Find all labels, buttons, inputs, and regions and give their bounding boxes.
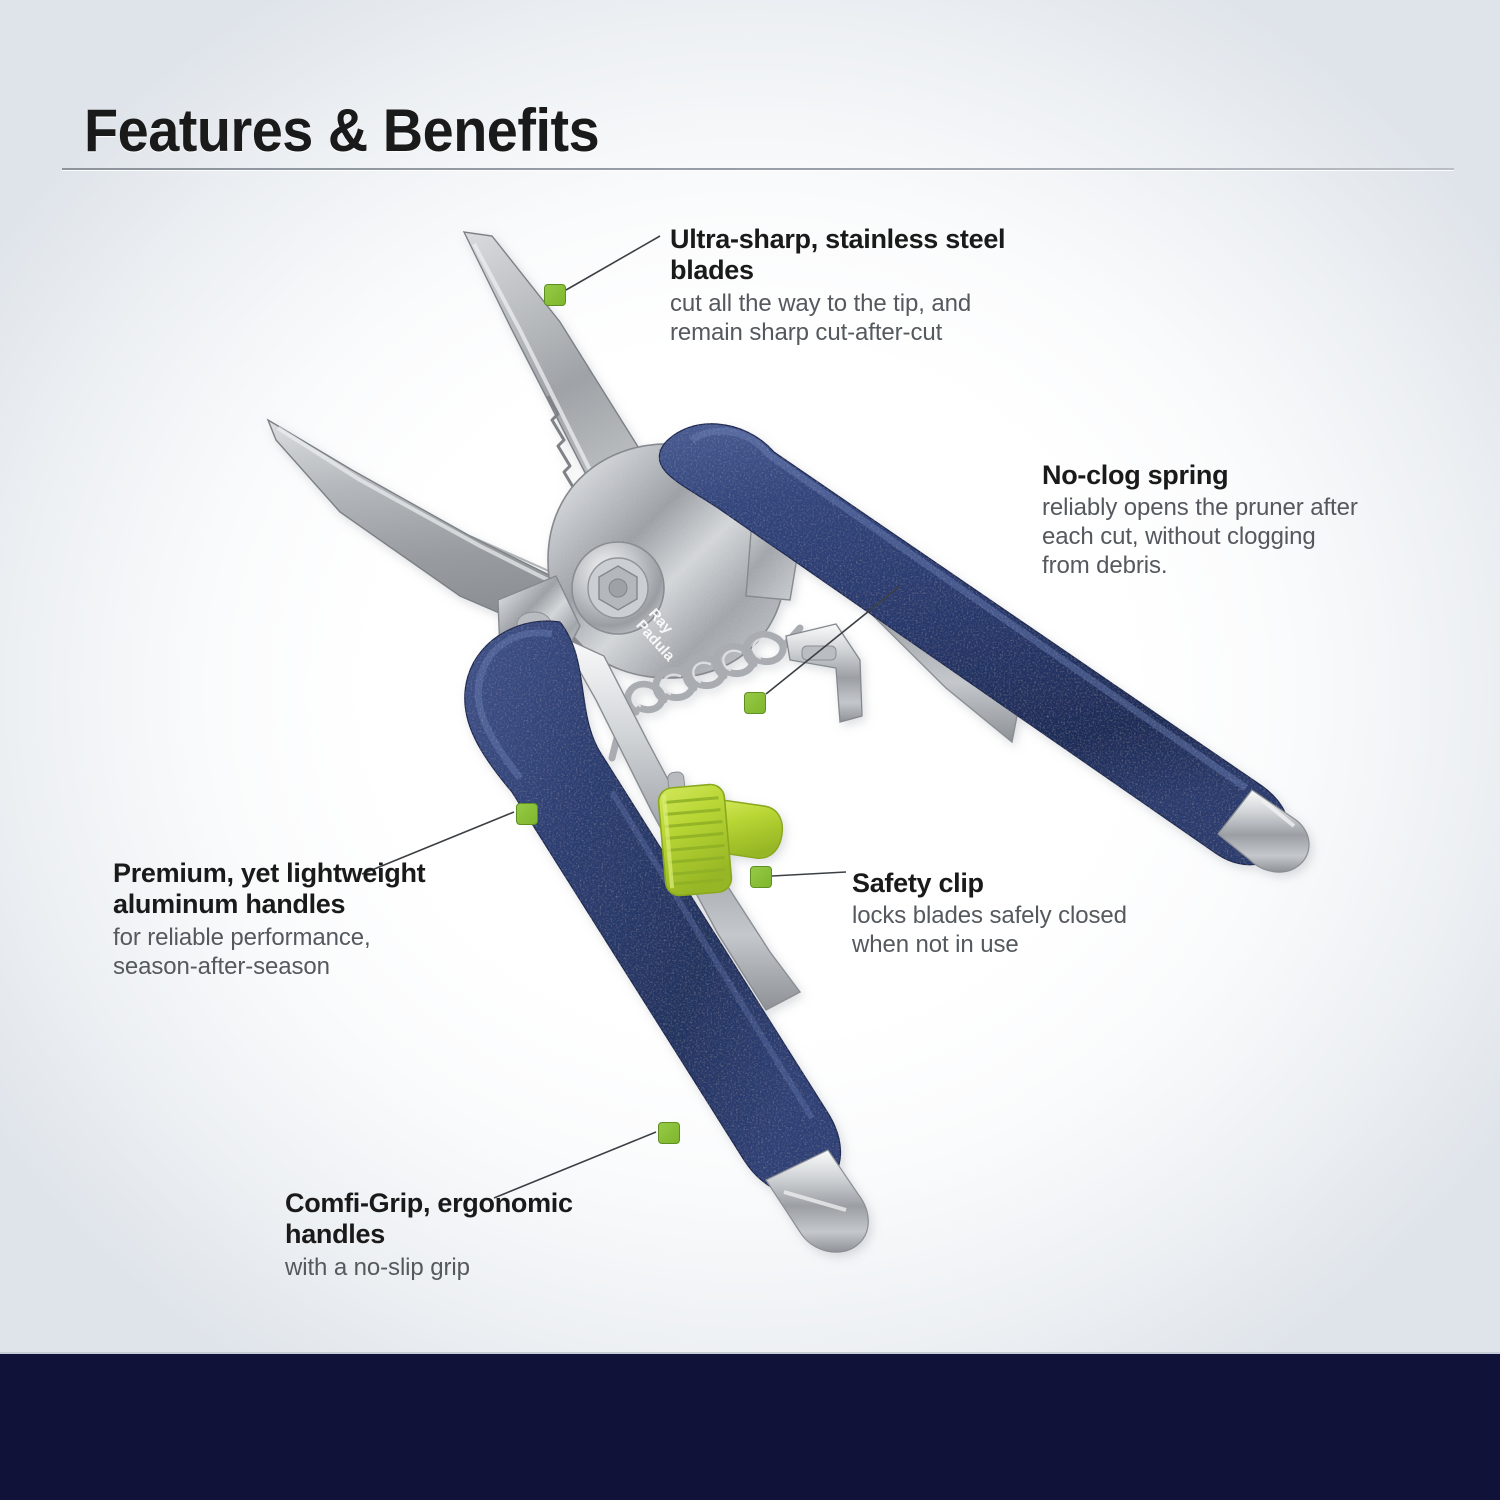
coil-spring bbox=[612, 628, 800, 758]
lower-handle-end-cap bbox=[766, 1150, 868, 1252]
infographic-page: Features & Benefits bbox=[0, 0, 1500, 1500]
title-divider bbox=[62, 168, 1454, 170]
pivot-head bbox=[498, 432, 800, 678]
marker-safety-clip bbox=[750, 866, 772, 888]
callout-body: locks blades safely closed when not in u… bbox=[852, 901, 1172, 959]
callout-heading: Ultra-sharp, stainless steel blades bbox=[670, 224, 1048, 287]
callout-heading: No-clog spring bbox=[1042, 460, 1362, 491]
marker-aluminum-handles bbox=[516, 803, 538, 825]
svg-text:Padula: Padula bbox=[632, 617, 678, 665]
svg-text:Ray: Ray bbox=[645, 605, 676, 637]
callout-body: reliably opens the pruner after each cut… bbox=[1042, 493, 1362, 580]
marker-comfi-grip bbox=[658, 1122, 680, 1144]
callout-blades: Ultra-sharp, stainless steel blades cut … bbox=[670, 224, 1048, 347]
latch-tab bbox=[786, 624, 862, 722]
lower-handle-grip bbox=[465, 621, 841, 1195]
lower-blade bbox=[268, 420, 700, 662]
callout-aluminum-handles: Premium, yet lightweight aluminum handle… bbox=[113, 858, 459, 981]
callout-heading: Premium, yet lightweight aluminum handle… bbox=[113, 858, 459, 921]
callout-heading: Safety clip bbox=[852, 868, 1172, 899]
leader-line-safety-clip bbox=[772, 872, 846, 876]
callout-body: cut all the way to the tip, and remain s… bbox=[670, 289, 1048, 347]
footer-band bbox=[0, 1352, 1500, 1500]
callout-heading: Comfi-Grip, ergonomic handles bbox=[285, 1188, 633, 1251]
callout-body: with a no-slip grip bbox=[285, 1253, 633, 1282]
callout-safety-clip: Safety clip locks blades safely closed w… bbox=[852, 868, 1172, 959]
callout-spring: No-clog spring reliably opens the pruner… bbox=[1042, 460, 1362, 580]
leader-line-spring bbox=[766, 586, 900, 694]
upper-handle-end-cap bbox=[1218, 790, 1309, 872]
pivot-bolt bbox=[572, 542, 664, 634]
leader-line-blades bbox=[566, 236, 660, 290]
page-title: Features & Benefits bbox=[84, 96, 599, 165]
marker-spring bbox=[744, 692, 766, 714]
brand-logo: Ray Padula bbox=[632, 605, 691, 665]
callout-body: for reliable performance, season-after-s… bbox=[113, 923, 459, 981]
marker-blades bbox=[544, 284, 566, 306]
callout-comfi-grip: Comfi-Grip, ergonomic handles with a no-… bbox=[285, 1188, 633, 1282]
